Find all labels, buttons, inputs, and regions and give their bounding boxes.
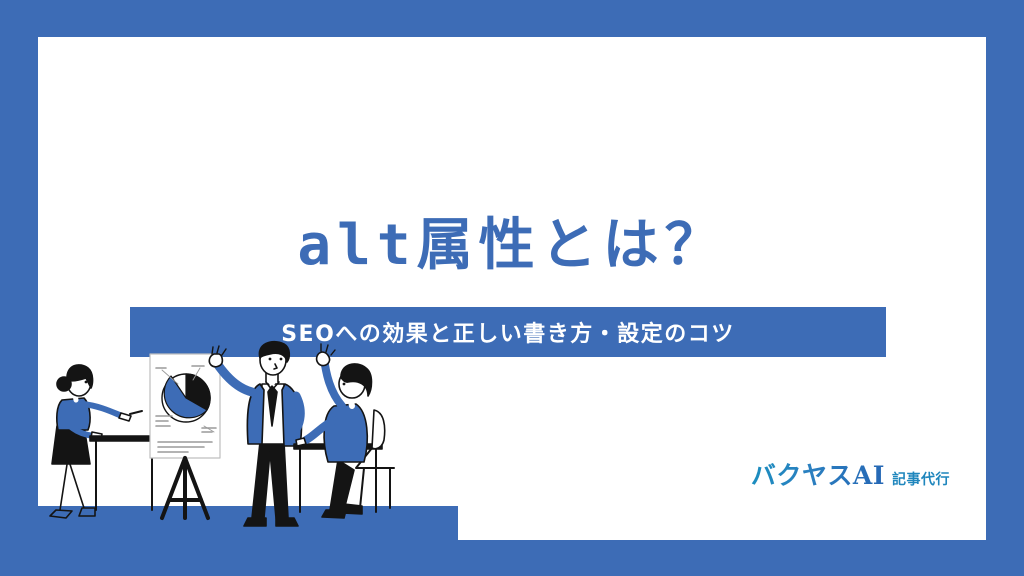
flipchart-easel — [150, 354, 220, 518]
logo-brand-name: バクヤスAI — [751, 456, 885, 492]
business-presentation-illustration — [38, 340, 458, 540]
figure-standing-presenter — [209, 342, 301, 526]
slide-inner-white-area: alt属性とは？ SEOへの効果と正しい書き方・設定のコツ バクヤスAI 記事代… — [38, 37, 986, 540]
left-table — [90, 436, 158, 510]
brand-logo: バクヤスAI 記事代行 — [751, 456, 950, 492]
slide-canvas: alt属性とは？ SEOへの効果と正しい書き方・設定のコツ バクヤスAI 記事代… — [0, 0, 1024, 576]
logo-service-name: 記事代行 — [892, 469, 950, 489]
title-block: alt属性とは？ — [38, 215, 986, 277]
figure-seated-worker — [296, 344, 394, 518]
illustration-svg — [38, 340, 458, 540]
pie-chart — [162, 374, 210, 422]
page-title: alt属性とは？ — [38, 215, 986, 277]
